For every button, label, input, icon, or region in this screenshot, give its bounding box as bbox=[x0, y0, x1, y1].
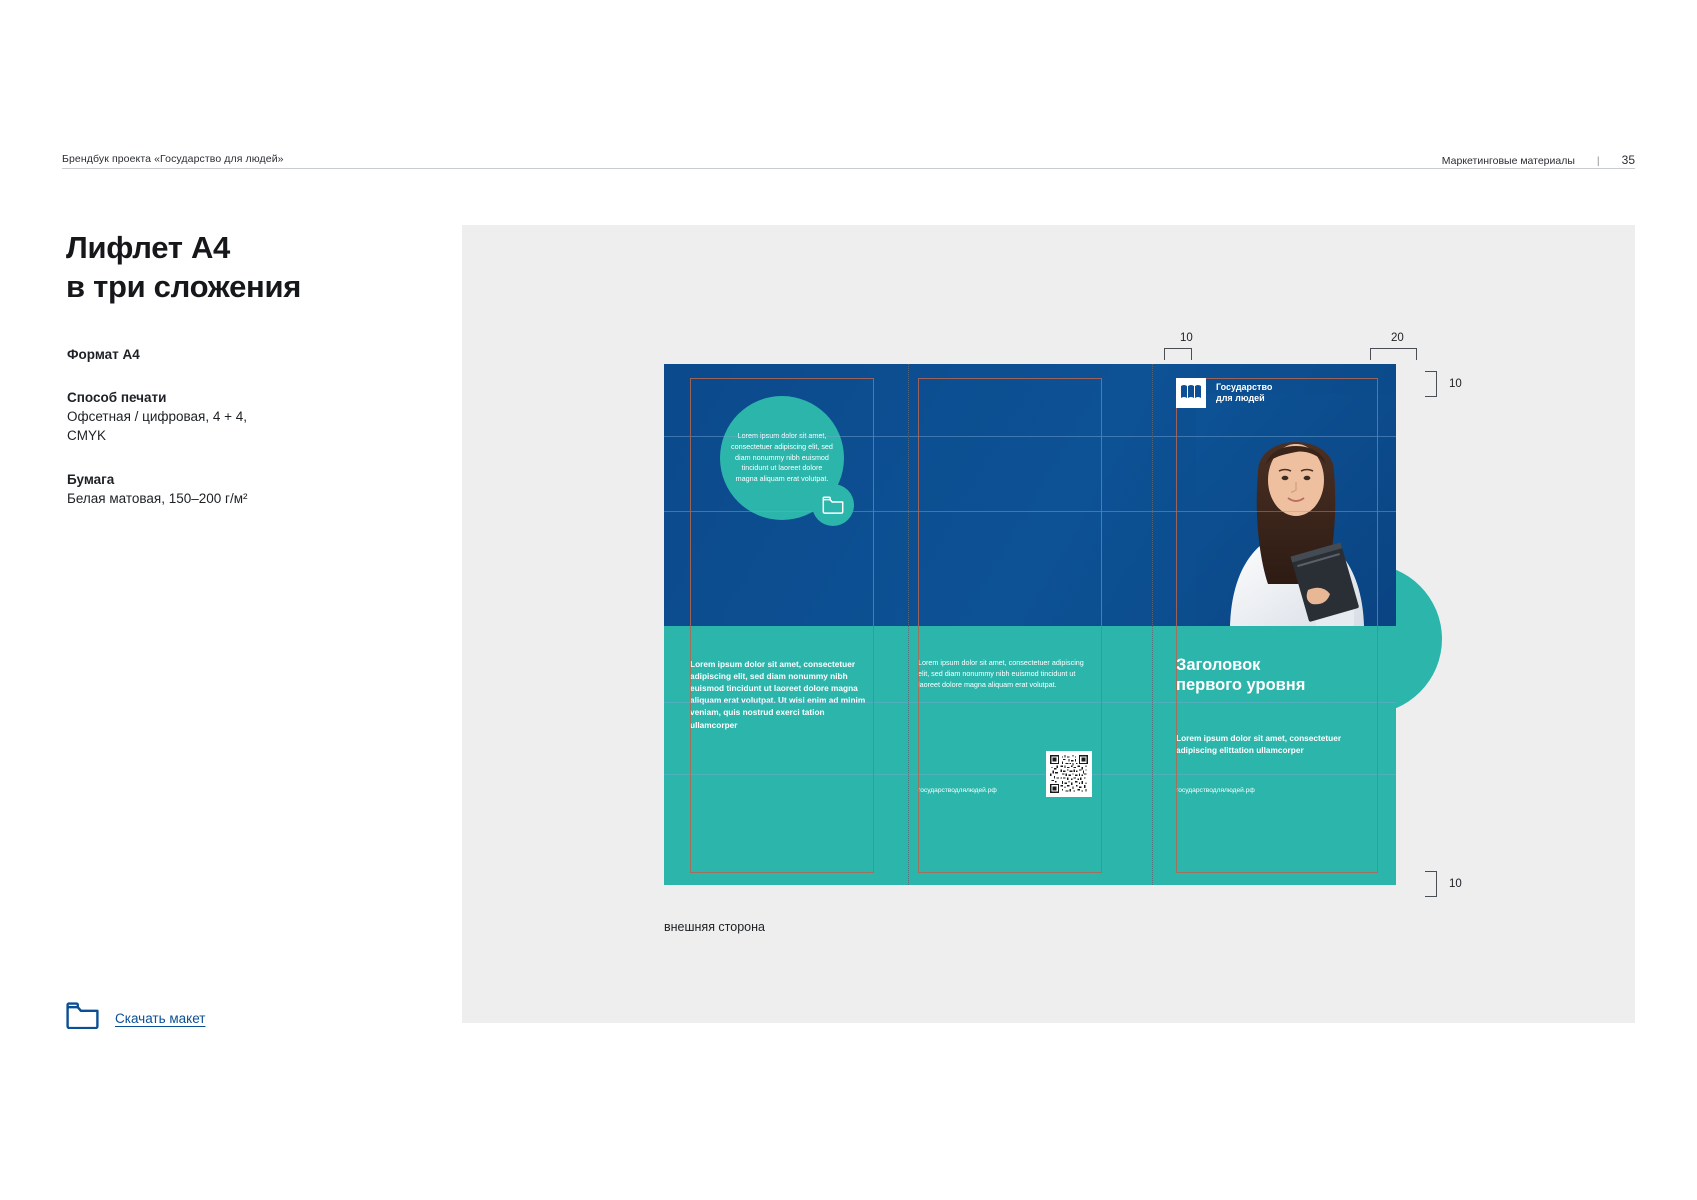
dimension-right-bottom: 10 bbox=[1449, 878, 1462, 890]
guide-hline-4 bbox=[664, 774, 1396, 775]
brand-logo-lockup: Государство для людей bbox=[1176, 378, 1272, 408]
dimension-bracket-right-top bbox=[1425, 371, 1437, 397]
page-number: 35 bbox=[1622, 153, 1635, 167]
guide-hline-1 bbox=[664, 436, 1396, 437]
photo-woman-with-folder bbox=[1196, 394, 1396, 626]
gosuslugi-flag-logo-icon bbox=[1176, 378, 1206, 408]
download-mockup-link[interactable]: Скачать макет bbox=[66, 1002, 205, 1034]
dimension-bracket-right-bottom bbox=[1425, 871, 1437, 897]
artboard-caption: внешняя сторона bbox=[664, 920, 765, 934]
header-separator: | bbox=[1597, 155, 1600, 167]
brand-logo-text: Государство для людей bbox=[1216, 382, 1272, 404]
guide-hline-3 bbox=[664, 702, 1396, 703]
spec-list: Формат А4 Способ печати Офсетная / цифро… bbox=[67, 345, 367, 508]
panel-1-body-text: Lorem ipsum dolor sit amet, consectetuer… bbox=[690, 658, 872, 731]
spec-item-paper: Бумага Белая матовая, 150–200 г/м² bbox=[67, 470, 367, 508]
folder-icon bbox=[66, 1002, 99, 1034]
spec-label: Способ печати bbox=[67, 388, 367, 407]
header-right-group: Маркетинговые материалы | 35 bbox=[1442, 153, 1635, 167]
guide-hline-2 bbox=[664, 511, 1396, 512]
fold-line-2 bbox=[1152, 364, 1153, 885]
panel-3-heading: Заголовок первого уровня bbox=[1176, 656, 1376, 696]
spec-label: Бумага bbox=[67, 470, 367, 489]
breadcrumb-brandbook: Брендбук проекта «Государство для людей» bbox=[62, 153, 284, 165]
dimension-right-top: 10 bbox=[1449, 378, 1462, 390]
fold-line-1 bbox=[908, 364, 909, 885]
leaflet-artboard: Lorem ipsum dolor sit amet, consectetuer… bbox=[664, 364, 1396, 885]
qr-code bbox=[1046, 751, 1092, 797]
dimension-bracket-top-right bbox=[1370, 348, 1417, 360]
dimension-top-left: 10 bbox=[1180, 332, 1193, 344]
circle-lorem-text: Lorem ipsum dolor sit amet, consectetuer… bbox=[730, 431, 834, 485]
panel-2-body-text: Lorem ipsum dolor sit amet, consectetuer… bbox=[918, 658, 1086, 690]
spec-value: Офсетная / цифровая, 4 + 4, CMYK bbox=[67, 407, 367, 445]
dimension-top-right: 20 bbox=[1391, 332, 1404, 344]
header-section-label: Маркетинговые материалы bbox=[1442, 155, 1575, 167]
spec-value: Белая матовая, 150–200 г/м² bbox=[67, 489, 367, 508]
folder-badge-icon bbox=[812, 484, 854, 526]
spec-label: Формат А4 bbox=[67, 345, 367, 364]
spec-item-format: Формат А4 bbox=[67, 345, 367, 364]
panel-3-subtext: Lorem ipsum dolor sit amet, consectetuer… bbox=[1176, 732, 1348, 756]
panel-3-website-url: государстводлялюдей.рф bbox=[1176, 787, 1255, 794]
page-title: Лифлет А4 в три сложения bbox=[66, 228, 301, 306]
spec-item-print-method: Способ печати Офсетная / цифровая, 4 + 4… bbox=[67, 388, 367, 445]
header-divider bbox=[62, 168, 1635, 169]
panel-2-website-url: государстводлялюдей.рф bbox=[918, 787, 997, 794]
dimension-bracket-top-left bbox=[1164, 348, 1192, 360]
download-link-label[interactable]: Скачать макет bbox=[115, 1011, 205, 1026]
